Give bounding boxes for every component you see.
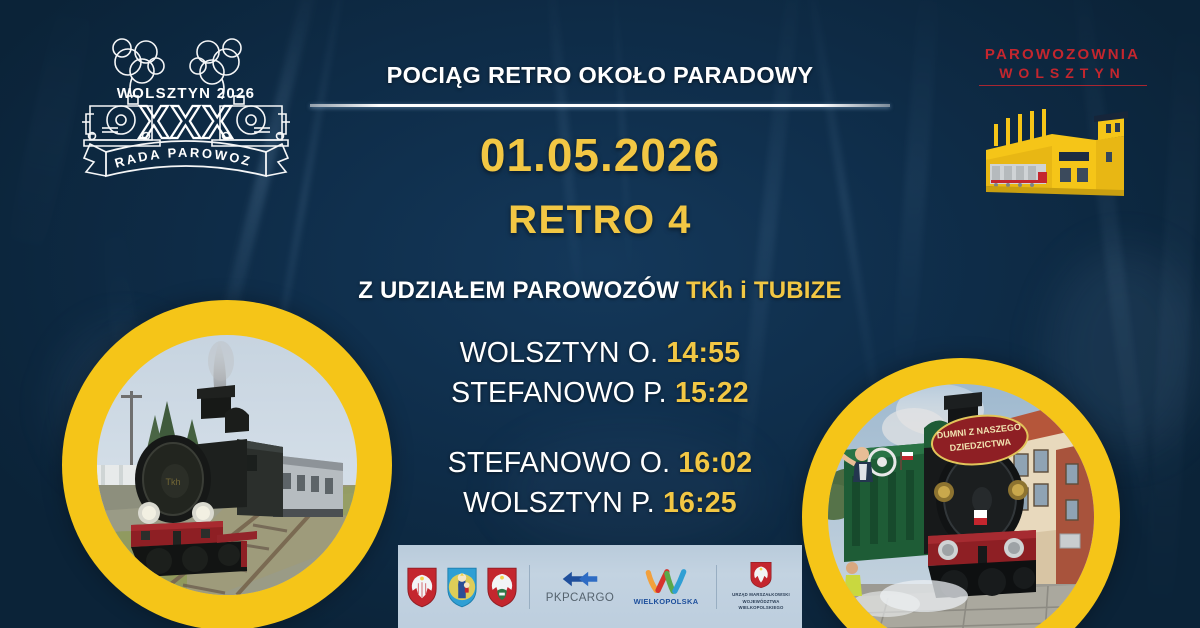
svg-text:XXX: XXX [138,96,233,148]
event-date: 01.05.2026 [300,128,900,182]
timetable-leg-outbound: WOLSZTYN O. 14:55 STEFANOWO P. 15:22 [300,333,900,414]
photo-black-steam-locomotive: Tkh [62,300,392,628]
station-time: 16:25 [663,487,737,519]
station-name: WOLSZTYN P. [463,487,655,519]
station-time: 14:55 [666,337,740,369]
wolsztyn-county-coat-of-arms [482,566,522,608]
divider [529,565,530,609]
roundhouse-illustration [960,90,1165,202]
station-name: STEFANOWO P. [451,377,667,409]
parada-parowozow-logo: XXX WOLSZTYN 2026 PARADA PAROWOZÓW [72,26,300,194]
station-name: STEFANOWO O. [448,447,671,479]
marshal-office-logo: URZĄD MARSZAŁKOWSKI WOJEWÓDZTWA WIELKOPO… [724,561,798,611]
svg-text:Tkh: Tkh [165,477,180,487]
timetable-row: STEFANOWO P. 15:22 [300,373,900,413]
wielkopolska-label: WIELKOPOLSKA [634,597,699,606]
wielkopolska-region-logo: WIELKOPOLSKA [623,568,709,606]
timetable-row: WOLSZTYN O. 14:55 [300,333,900,373]
station-name: WOLSZTYN O. [460,337,659,369]
marshal-office-label: URZĄD MARSZAŁKOWSKI WOJEWÓDZTWA WIELKOPO… [724,592,798,611]
locomotives-highlight: TKh i TUBIZE [686,277,842,304]
depot-logo-rule [979,85,1147,86]
sponsor-logo-bar: PKPCARGO WIELKOPOLSKA [398,545,802,628]
wielkopolska-coat-of-arms [402,566,442,608]
locomotives-prefix: Z UDZIAŁEM PAROWOZÓW [358,277,679,304]
locomotives-line: Z UDZIAŁEM PAROWOZÓW TKh i TUBIZE [300,277,900,305]
depot-logo-title: PAROWOZOWNIA [960,46,1165,63]
wolsztyn-town-coat-of-arms [442,566,482,608]
parowozownia-wolsztyn-logo: PAROWOZOWNIA WOLSZTYN [960,46,1165,206]
pkp-cargo-label: PKPCARGO [546,592,614,604]
divider [716,565,717,609]
station-time: 15:22 [675,377,749,409]
station-time: 16:02 [678,447,752,479]
pkp-cargo-logo: PKPCARGO [537,569,623,604]
svg-text:WOLSZTYN 2026: WOLSZTYN 2026 [117,85,256,102]
poster-canvas: XXX WOLSZTYN 2026 PARADA PAROWOZÓW PAROW… [0,0,1200,628]
train-name: RETRO 4 [300,198,900,243]
depot-logo-subtitle: WOLSZTYN [960,65,1165,81]
title-divider [310,104,890,107]
page-title: POCIĄG RETRO OKOŁO PARADOWY [300,62,900,89]
